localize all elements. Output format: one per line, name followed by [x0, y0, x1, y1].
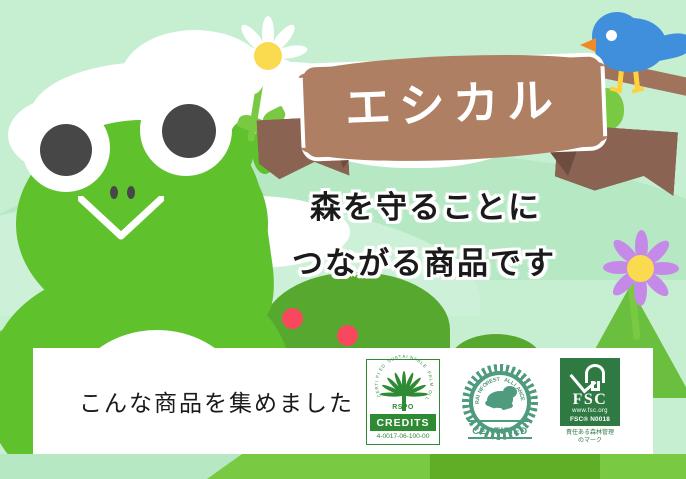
rainforest-alliance-certified-label: CERTIFIED: [462, 426, 538, 437]
flower-center: [254, 42, 282, 70]
fsc-certification-logo: FSC www.fsc.org FSC® N0018 責任ある森林管理 のマーク: [560, 358, 620, 446]
fsc-brand: FSC: [560, 391, 620, 409]
bird-head: [592, 12, 642, 60]
berry-icon: [282, 308, 303, 329]
headline: 森を守ることに つながる商品です: [292, 180, 622, 292]
headline-line-2: つながる商品です: [292, 236, 622, 292]
bird-beak: [580, 38, 596, 52]
fsc-url: www.fsc.org: [560, 408, 620, 414]
ribbon-label: エシカル: [303, 68, 603, 139]
bird-eye: [606, 30, 617, 41]
fsc-caption-line-2: のマーク: [560, 437, 620, 445]
certification-logo-group: CERTIFIED SUSTAINABLE PALM OIL RSPO CRED…: [366, 357, 646, 447]
rspo-license-code: 4-0017-06-100-00: [367, 433, 439, 440]
berry-icon: [337, 325, 358, 346]
frog-head: [503, 386, 517, 398]
bottom-hill: [600, 454, 686, 479]
fsc-caption: 責任ある森林管理 のマーク: [560, 429, 620, 445]
rspo-type-label: CREDITS: [370, 414, 436, 431]
frog-mouth: [78, 196, 164, 240]
frog-pupil-right: [162, 104, 216, 158]
bottom-hill: [0, 454, 240, 479]
flower-center: [627, 255, 654, 282]
ribbon-banner: エシカル: [302, 56, 603, 157]
rspo-brand: RSPO: [367, 404, 439, 411]
fsc-caption-line-1: 責任ある森林管理: [560, 429, 620, 437]
fsc-box: FSC www.fsc.org FSC® N0018: [560, 358, 620, 426]
rspo-certification-logo: CERTIFIED SUSTAINABLE PALM OIL RSPO CRED…: [366, 359, 440, 445]
daisy-flower-icon: [228, 16, 308, 96]
fsc-license-code: FSC® N0018: [560, 416, 620, 423]
ethical-product-banner: エシカル 森を守ることに つながる商品です こんな商品を集めました CERTIF…: [0, 0, 686, 479]
certification-panel: こんな商品を集めました CERTIFIED SUSTAINABLE PALM O…: [33, 348, 653, 454]
fsc-checkmark-tree-icon: [575, 364, 607, 392]
tree-trunk: [591, 381, 600, 391]
tree-frog-icon: [483, 386, 517, 412]
frog-pupil-left: [40, 124, 92, 176]
headline-line-1: 森を守ることに: [292, 180, 622, 236]
rainforest-alliance-logo: RAINFOREST ALLIANCE CERTIFIED: [462, 364, 538, 440]
panel-caption: こんな商品を集めました: [79, 384, 354, 418]
